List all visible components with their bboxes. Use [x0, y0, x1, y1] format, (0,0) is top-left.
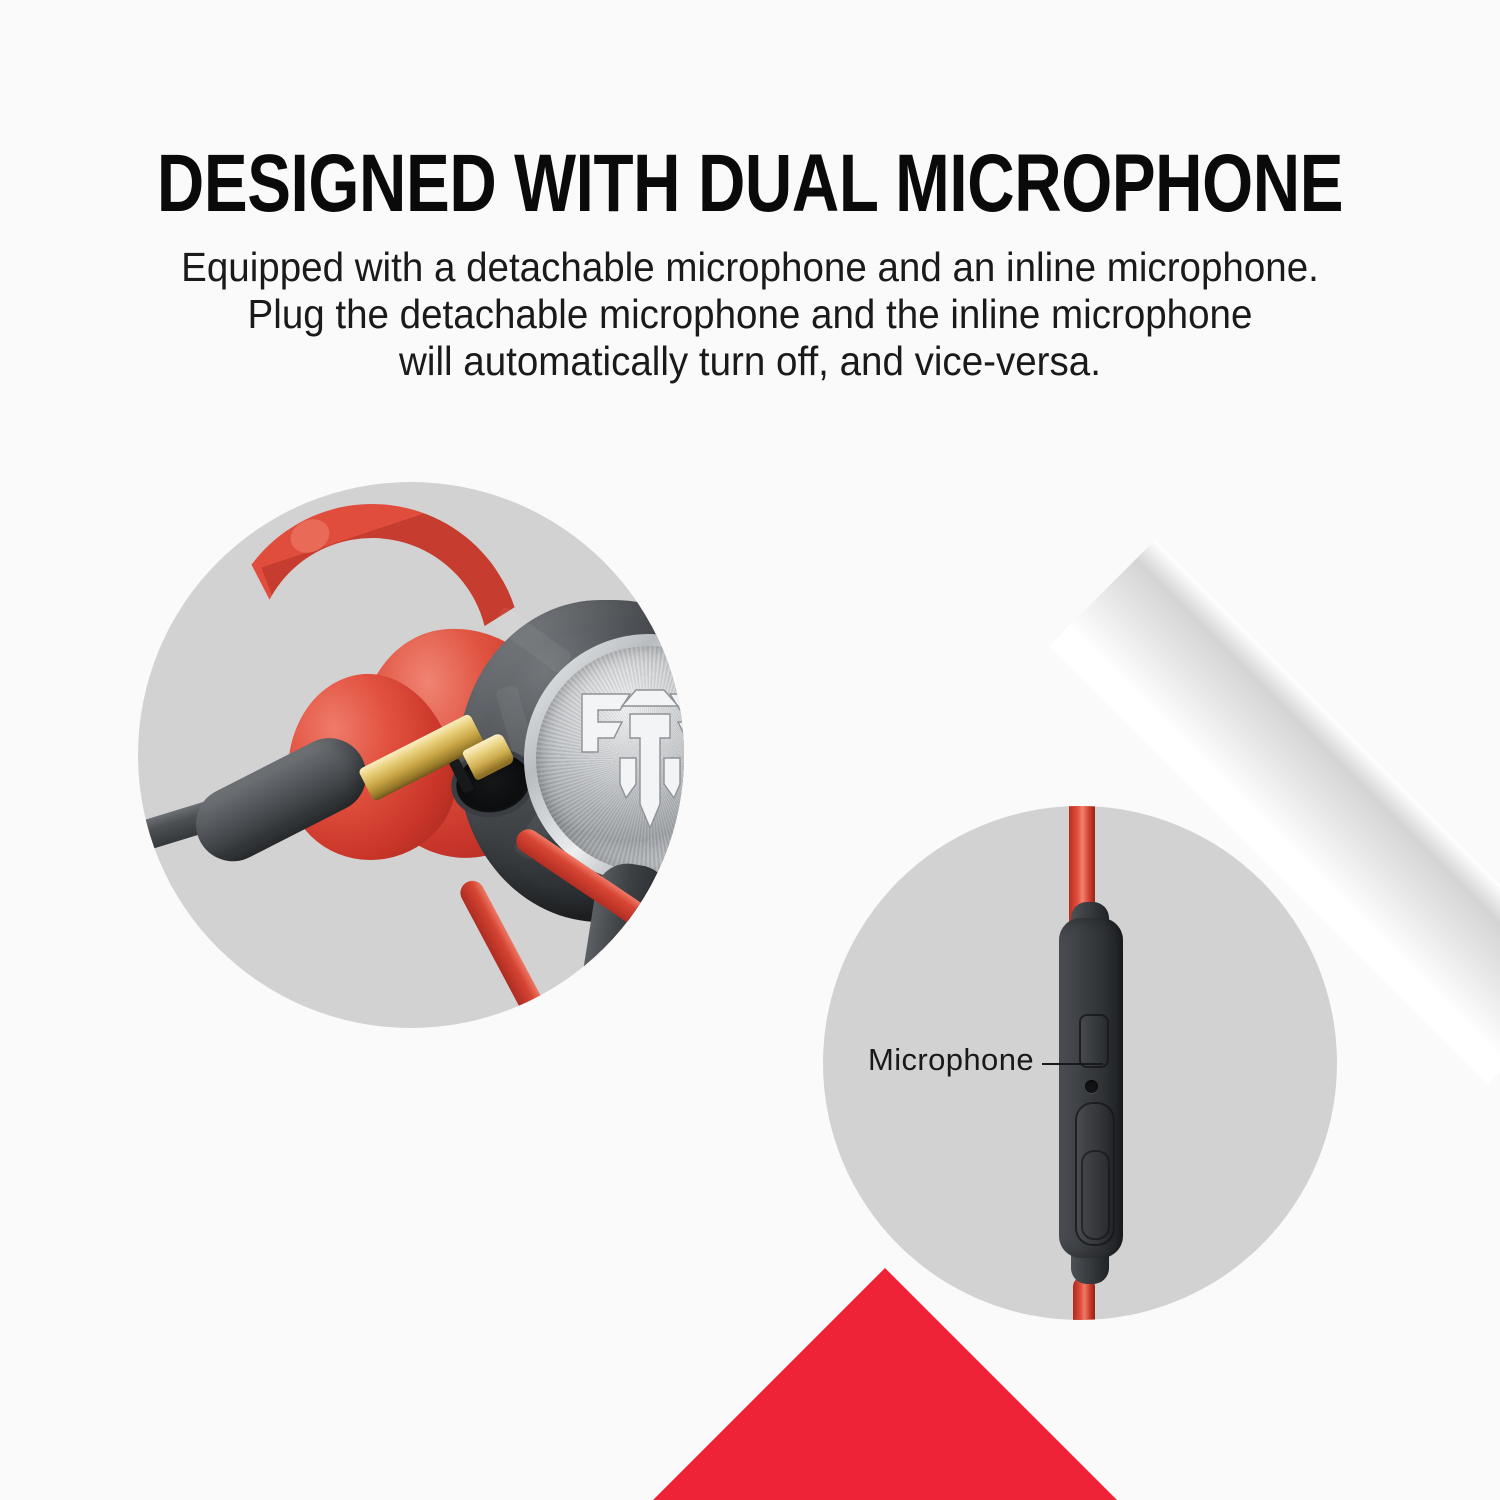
fantech-logo-icon — [574, 680, 684, 838]
volume-rocker-inner[interactable] — [1081, 1150, 1110, 1240]
microphone-callout-label: Microphone — [868, 1042, 1034, 1078]
product-feature-slide: DESIGNED WITH DUAL MICROPHONE Equipped w… — [0, 0, 1500, 1500]
earbud-illustration — [138, 482, 684, 1028]
multifunction-button[interactable] — [1079, 1014, 1109, 1068]
subcopy-line-1: Equipped with a detachable microphone an… — [45, 244, 1455, 291]
subcopy-line-3: will automatically turn off, and vice-ve… — [45, 338, 1455, 385]
page-title: DESIGNED WITH DUAL MICROPHONE — [150, 142, 1350, 226]
microphone-pinhole-icon — [1085, 1080, 1098, 1093]
page-subcopy: Equipped with a detachable microphone an… — [45, 244, 1455, 385]
microphone-callout-leader-line — [1042, 1063, 1103, 1065]
earbud-photo-panel — [138, 482, 684, 1028]
subcopy-line-2: Plug the detachable microphone and the i… — [45, 291, 1455, 338]
